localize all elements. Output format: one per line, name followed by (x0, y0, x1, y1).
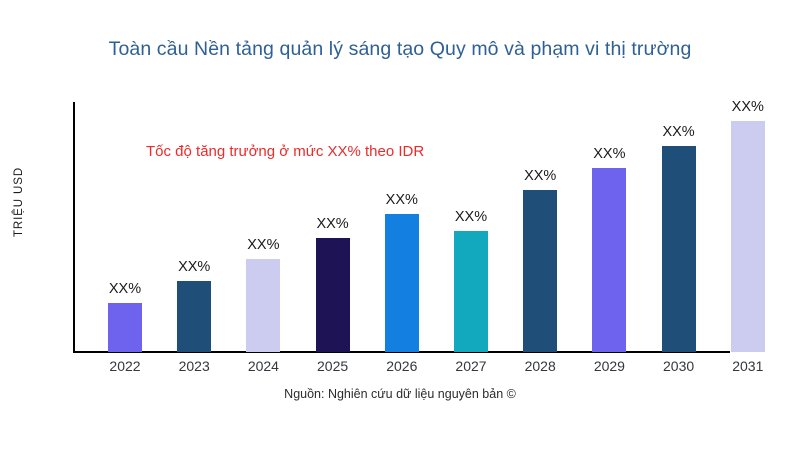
bar-value-label: XX% (500, 168, 580, 184)
bar (662, 146, 696, 352)
bar-value-label: XX% (223, 237, 303, 253)
bar-value-label: XX% (293, 216, 373, 232)
bar-value-label: XX% (362, 192, 442, 208)
bar (177, 281, 211, 352)
bar (316, 238, 350, 352)
bar-value-label: XX% (708, 99, 788, 115)
growth-rate-annotation: Tốc độ tăng trưởng ở mức XX% theo IDR (146, 143, 424, 160)
bar (108, 303, 142, 352)
bar (523, 190, 557, 352)
x-tick-label-2030: 2030 (639, 358, 719, 374)
bar (454, 231, 488, 352)
bar (385, 214, 419, 352)
bar (592, 168, 626, 352)
x-tick-label-2028: 2028 (500, 358, 580, 374)
x-tick-label-2026: 2026 (362, 358, 442, 374)
x-tick-label-2024: 2024 (223, 358, 303, 374)
bar (246, 259, 280, 352)
x-tick-label-2023: 2023 (154, 358, 234, 374)
plot-area: XX%2022XX%2023XX%2024XX%2025XX%2026XX%20… (0, 0, 800, 450)
x-tick-label-2022: 2022 (85, 358, 165, 374)
bar-value-label: XX% (431, 209, 511, 225)
x-tick-label-2029: 2029 (569, 358, 649, 374)
bar (731, 121, 765, 352)
x-tick-label-2031: 2031 (708, 358, 788, 374)
x-tick-label-2025: 2025 (293, 358, 373, 374)
bar-value-label: XX% (154, 259, 234, 275)
bar-value-label: XX% (569, 146, 649, 162)
x-tick-label-2027: 2027 (431, 358, 511, 374)
bar-chart: Toàn cầu Nền tảng quản lý sáng tạo Quy m… (0, 0, 800, 450)
source-note: Nguồn: Nghiên cứu dữ liệu nguyên bản © (0, 387, 800, 401)
bar-value-label: XX% (639, 124, 719, 140)
bar-value-label: XX% (85, 281, 165, 297)
